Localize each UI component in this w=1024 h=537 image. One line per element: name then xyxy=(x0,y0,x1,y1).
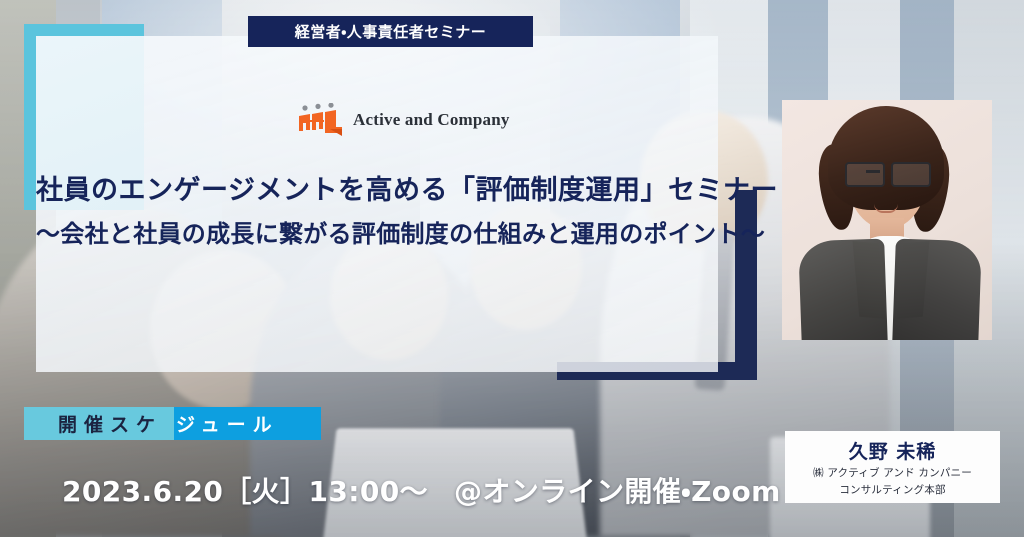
speaker-glasses-icon xyxy=(844,162,932,183)
audience-ribbon-label: 経営者・人事責任者セミナー xyxy=(295,21,487,42)
company-logo-text: Active and Company xyxy=(353,110,510,130)
speaker-photo xyxy=(782,100,992,340)
schedule-date: 2023.6.20［火］13:00〜 xyxy=(62,470,428,510)
schedule-heading-label-part2: ジュール xyxy=(176,410,279,437)
schedule-heading-bar: 開催スケ ジュール xyxy=(24,407,321,440)
schedule-heading-label-part1: 開催スケ xyxy=(58,410,162,437)
company-logo: Active and Company xyxy=(296,103,510,137)
speaker-hair-top xyxy=(828,106,944,210)
active-and-company-stairs-icon xyxy=(296,103,344,137)
schedule-heading-right: ジュール xyxy=(174,407,321,440)
speaker-department: コンサルティング本部 xyxy=(839,484,945,497)
seminar-subtitle: 〜会社と社員の成長に繋がる評価制度の仕組みと運用のポイント〜 xyxy=(36,214,718,249)
audience-ribbon: 経営者・人事責任者セミナー xyxy=(248,16,533,47)
speaker-name-card: 久野 未稀 ㈱ アクティブ アンド カンパニー コンサルティング本部 xyxy=(785,431,1000,503)
navy-corner-bracket-vertical xyxy=(735,190,757,380)
speaker-glasses-bridge xyxy=(866,170,880,173)
seminar-banner: 経営者・人事責任者セミナー Active and Company 社員のエンゲー… xyxy=(0,0,1024,537)
schedule-venue: @オンライン開催・Zoom xyxy=(454,470,781,510)
speaker-name: 久野 未稀 xyxy=(849,437,937,464)
speaker-organization: ㈱ アクティブ アンド カンパニー xyxy=(813,467,972,480)
schedule-heading-left: 開催スケ xyxy=(24,407,174,440)
seminar-title: 社員のエンゲージメントを高める「評価制度運用」セミナー xyxy=(36,168,718,207)
schedule-dateline: 2023.6.20［火］13:00〜 @オンライン開催・Zoom xyxy=(62,470,781,510)
